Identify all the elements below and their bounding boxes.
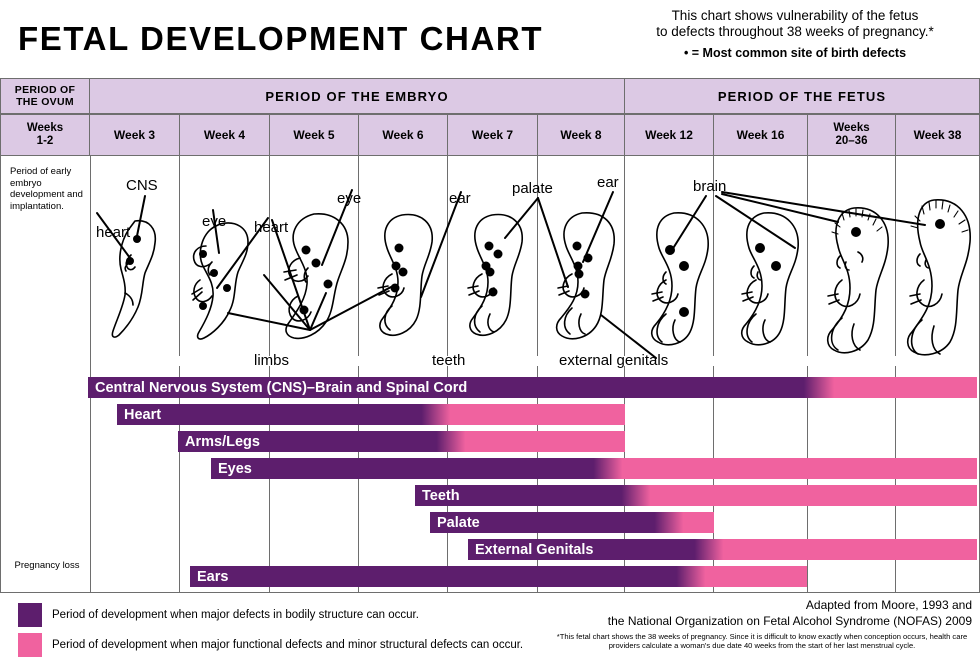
bar-segment-functional <box>454 404 625 425</box>
annotation-heart-week3: heart <box>96 224 130 241</box>
bar-segment-transition <box>417 404 455 425</box>
bar-row-external-genitals: External Genitals <box>468 539 977 560</box>
bar-segment-functional <box>654 485 977 506</box>
week-header-5: Week 7 <box>447 114 538 156</box>
embryo-figure-week5 <box>276 210 362 350</box>
grid-line-bars-week6 <box>358 366 359 593</box>
week-header-9-line1: Weeks <box>833 122 869 134</box>
week-header-3: Week 5 <box>269 114 359 156</box>
bar-segment-transition <box>589 458 627 479</box>
bar-label-palate: Palate <box>430 512 514 533</box>
week-header-9-line2: 20–36 <box>836 135 868 147</box>
bar-segment-structural <box>190 566 680 587</box>
grid-line-week12 <box>624 156 625 356</box>
week-header-9: Weeks 20–36 <box>807 114 896 156</box>
embryo-figure-week7 <box>460 210 534 345</box>
bar-row-heart: Heart <box>117 404 625 425</box>
annotation-external-genitals: external genitals <box>559 352 668 369</box>
bar-segment-transition <box>617 485 655 506</box>
bar-segment-transition <box>432 431 470 452</box>
grid-line-bars-week7 <box>447 366 448 593</box>
bar-label-external-genitals: External Genitals <box>468 539 635 560</box>
fetus-figure-week16 <box>730 208 808 353</box>
fetus-figure-week2036 <box>818 200 898 360</box>
week-header-4: Week 6 <box>358 114 448 156</box>
chart-description: This chart shows vulnerability of the fe… <box>620 8 970 40</box>
fetus-figure-week12 <box>640 208 718 353</box>
bar-segment-transition <box>672 566 710 587</box>
grid-line-week4 <box>179 156 180 356</box>
week-header-10: Week 38 <box>895 114 980 156</box>
bar-label-ears: Ears <box>190 566 252 587</box>
week-header-6: Week 8 <box>537 114 625 156</box>
legend-text-structural: Period of development when major defects… <box>52 609 419 621</box>
chart-description-line-1: This chart shows vulnerability of the fe… <box>620 8 970 24</box>
annotation-ear-week6: ear <box>449 190 471 207</box>
bar-label-teeth: Teeth <box>415 485 493 506</box>
bar-label-cns: Central Nervous System (CNS)–Brain and S… <box>88 377 543 398</box>
bar-row-arms-legs: Arms/Legs <box>178 431 625 452</box>
credit-line-2: the National Organization on Fetal Alcoh… <box>552 613 972 629</box>
embryo-figure-week6 <box>372 210 444 345</box>
bar-segment-functional <box>469 431 625 452</box>
bar-row-teeth: Teeth <box>415 485 977 506</box>
grid-line-week5 <box>269 156 270 356</box>
annotation-cns: CNS <box>126 177 158 194</box>
week-header-0-line2: 1-2 <box>37 135 54 147</box>
dot-key-legend: • = Most common site of birth defects <box>620 46 970 60</box>
fetus-figure-week38 <box>898 192 978 364</box>
page-title: FETAL DEVELOPMENT CHART <box>18 20 543 58</box>
period-ovum-line1: PERIOD OF <box>15 84 75 96</box>
period-header-ovum: PERIOD OF THE OVUM <box>0 78 90 114</box>
bar-label-heart: Heart <box>117 404 189 425</box>
fetal-development-chart: FETAL DEVELOPMENT CHART This chart shows… <box>0 0 980 661</box>
chart-description-line-2: to defects throughout 38 weeks of pregna… <box>620 24 970 40</box>
week-header-1: Week 3 <box>89 114 180 156</box>
bar-segment-transition <box>690 539 728 560</box>
title-block: FETAL DEVELOPMENT CHART This chart shows… <box>0 0 980 78</box>
annotation-limbs: limbs <box>254 352 289 369</box>
period-header-fetus: PERIOD OF THE FETUS <box>624 78 980 114</box>
bar-segment-functional <box>727 539 977 560</box>
embryo-figure-week4 <box>186 218 266 348</box>
footnote-line-1: *This fetal chart shows the 38 weeks of … <box>557 632 901 641</box>
legend-text-functional: Period of development when major functio… <box>52 639 523 651</box>
annotation-eye-week5: eye <box>337 190 361 207</box>
annotation-ear-week8: ear <box>597 174 619 191</box>
embryo-figure-week8 <box>548 208 624 348</box>
annotation-eye-week4: eye <box>202 213 226 230</box>
bar-segment-transition <box>799 377 839 398</box>
week-header-2: Week 4 <box>179 114 270 156</box>
week-header-7: Week 12 <box>624 114 714 156</box>
bar-row-palate: Palate <box>430 512 714 533</box>
bar-label-arms-legs: Arms/Legs <box>178 431 288 452</box>
footnote: *This fetal chart shows the 38 weeks of … <box>552 632 972 651</box>
early-embryo-note: Period of early embryo development and i… <box>10 166 84 212</box>
legend-swatch-structural <box>18 603 42 627</box>
annotation-heart-week45: heart <box>254 219 288 236</box>
grid-line-bars-week5 <box>269 366 270 593</box>
annotation-palate: palate <box>512 180 553 197</box>
grid-line-bars-week4 <box>179 366 180 593</box>
pregnancy-loss-label: Pregnancy loss <box>10 560 84 571</box>
bar-segment-functional <box>687 512 714 533</box>
period-header-embryo: PERIOD OF THE EMBRYO <box>89 78 625 114</box>
bar-segment-functional <box>709 566 807 587</box>
bar-segment-functional <box>626 458 977 479</box>
bar-label-eyes: Eyes <box>211 458 281 479</box>
bar-segment-transition <box>650 512 688 533</box>
bar-row-eyes: Eyes <box>211 458 977 479</box>
annotation-teeth: teeth <box>432 352 465 369</box>
week-header-0: Weeks 1-2 <box>0 114 90 156</box>
bar-segment-functional <box>838 377 977 398</box>
period-ovum-line2: THE OVUM <box>16 96 74 108</box>
grid-line-week7 <box>447 156 448 356</box>
annotation-brain: brain <box>693 178 726 195</box>
credit-line-1: Adapted from Moore, 1993 and <box>552 597 972 613</box>
legend-swatch-functional <box>18 633 42 657</box>
left-column-divider <box>90 156 91 593</box>
week-header-8: Week 16 <box>713 114 808 156</box>
bar-row-ears: Ears <box>190 566 807 587</box>
bar-row-cns: Central Nervous System (CNS)–Brain and S… <box>88 377 977 398</box>
week-header-0-line1: Weeks <box>27 122 63 134</box>
